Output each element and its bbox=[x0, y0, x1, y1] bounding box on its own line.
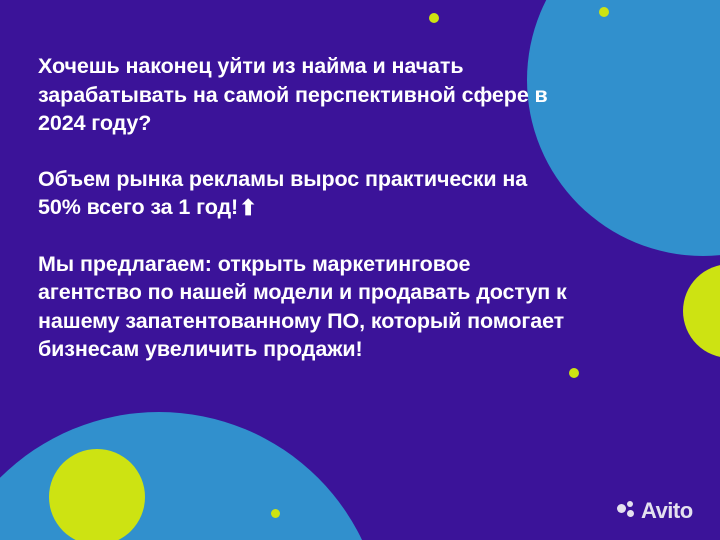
market-growth-statement: Объем рынка рекламы вырос практически на… bbox=[38, 165, 568, 223]
decorative-yellow-circle-right bbox=[683, 264, 720, 358]
market-growth-text: Объем рынка рекламы вырос практически на… bbox=[38, 167, 527, 220]
avito-dots-icon bbox=[617, 501, 637, 521]
arrow-up-icon: ⬆ bbox=[239, 194, 257, 223]
decorative-dot-top-center bbox=[429, 13, 439, 23]
decorative-dot-middle-right bbox=[569, 368, 579, 378]
avito-watermark: Avito bbox=[617, 501, 693, 521]
offer-description: Мы предлагаем: открыть маркетинговое аге… bbox=[38, 250, 568, 364]
decorative-yellow-circle-bottom-left bbox=[49, 449, 145, 540]
decorative-dot-bottom-center bbox=[271, 509, 280, 518]
decorative-dot-top-right bbox=[599, 7, 609, 17]
promo-poster: Хочешь наконец уйти из найма и начать за… bbox=[0, 0, 720, 540]
avito-wordmark: Avito bbox=[641, 501, 693, 521]
promo-copy-block: Хочешь наконец уйти из найма и начать за… bbox=[38, 52, 568, 364]
headline-question: Хочешь наконец уйти из найма и начать за… bbox=[38, 52, 568, 138]
